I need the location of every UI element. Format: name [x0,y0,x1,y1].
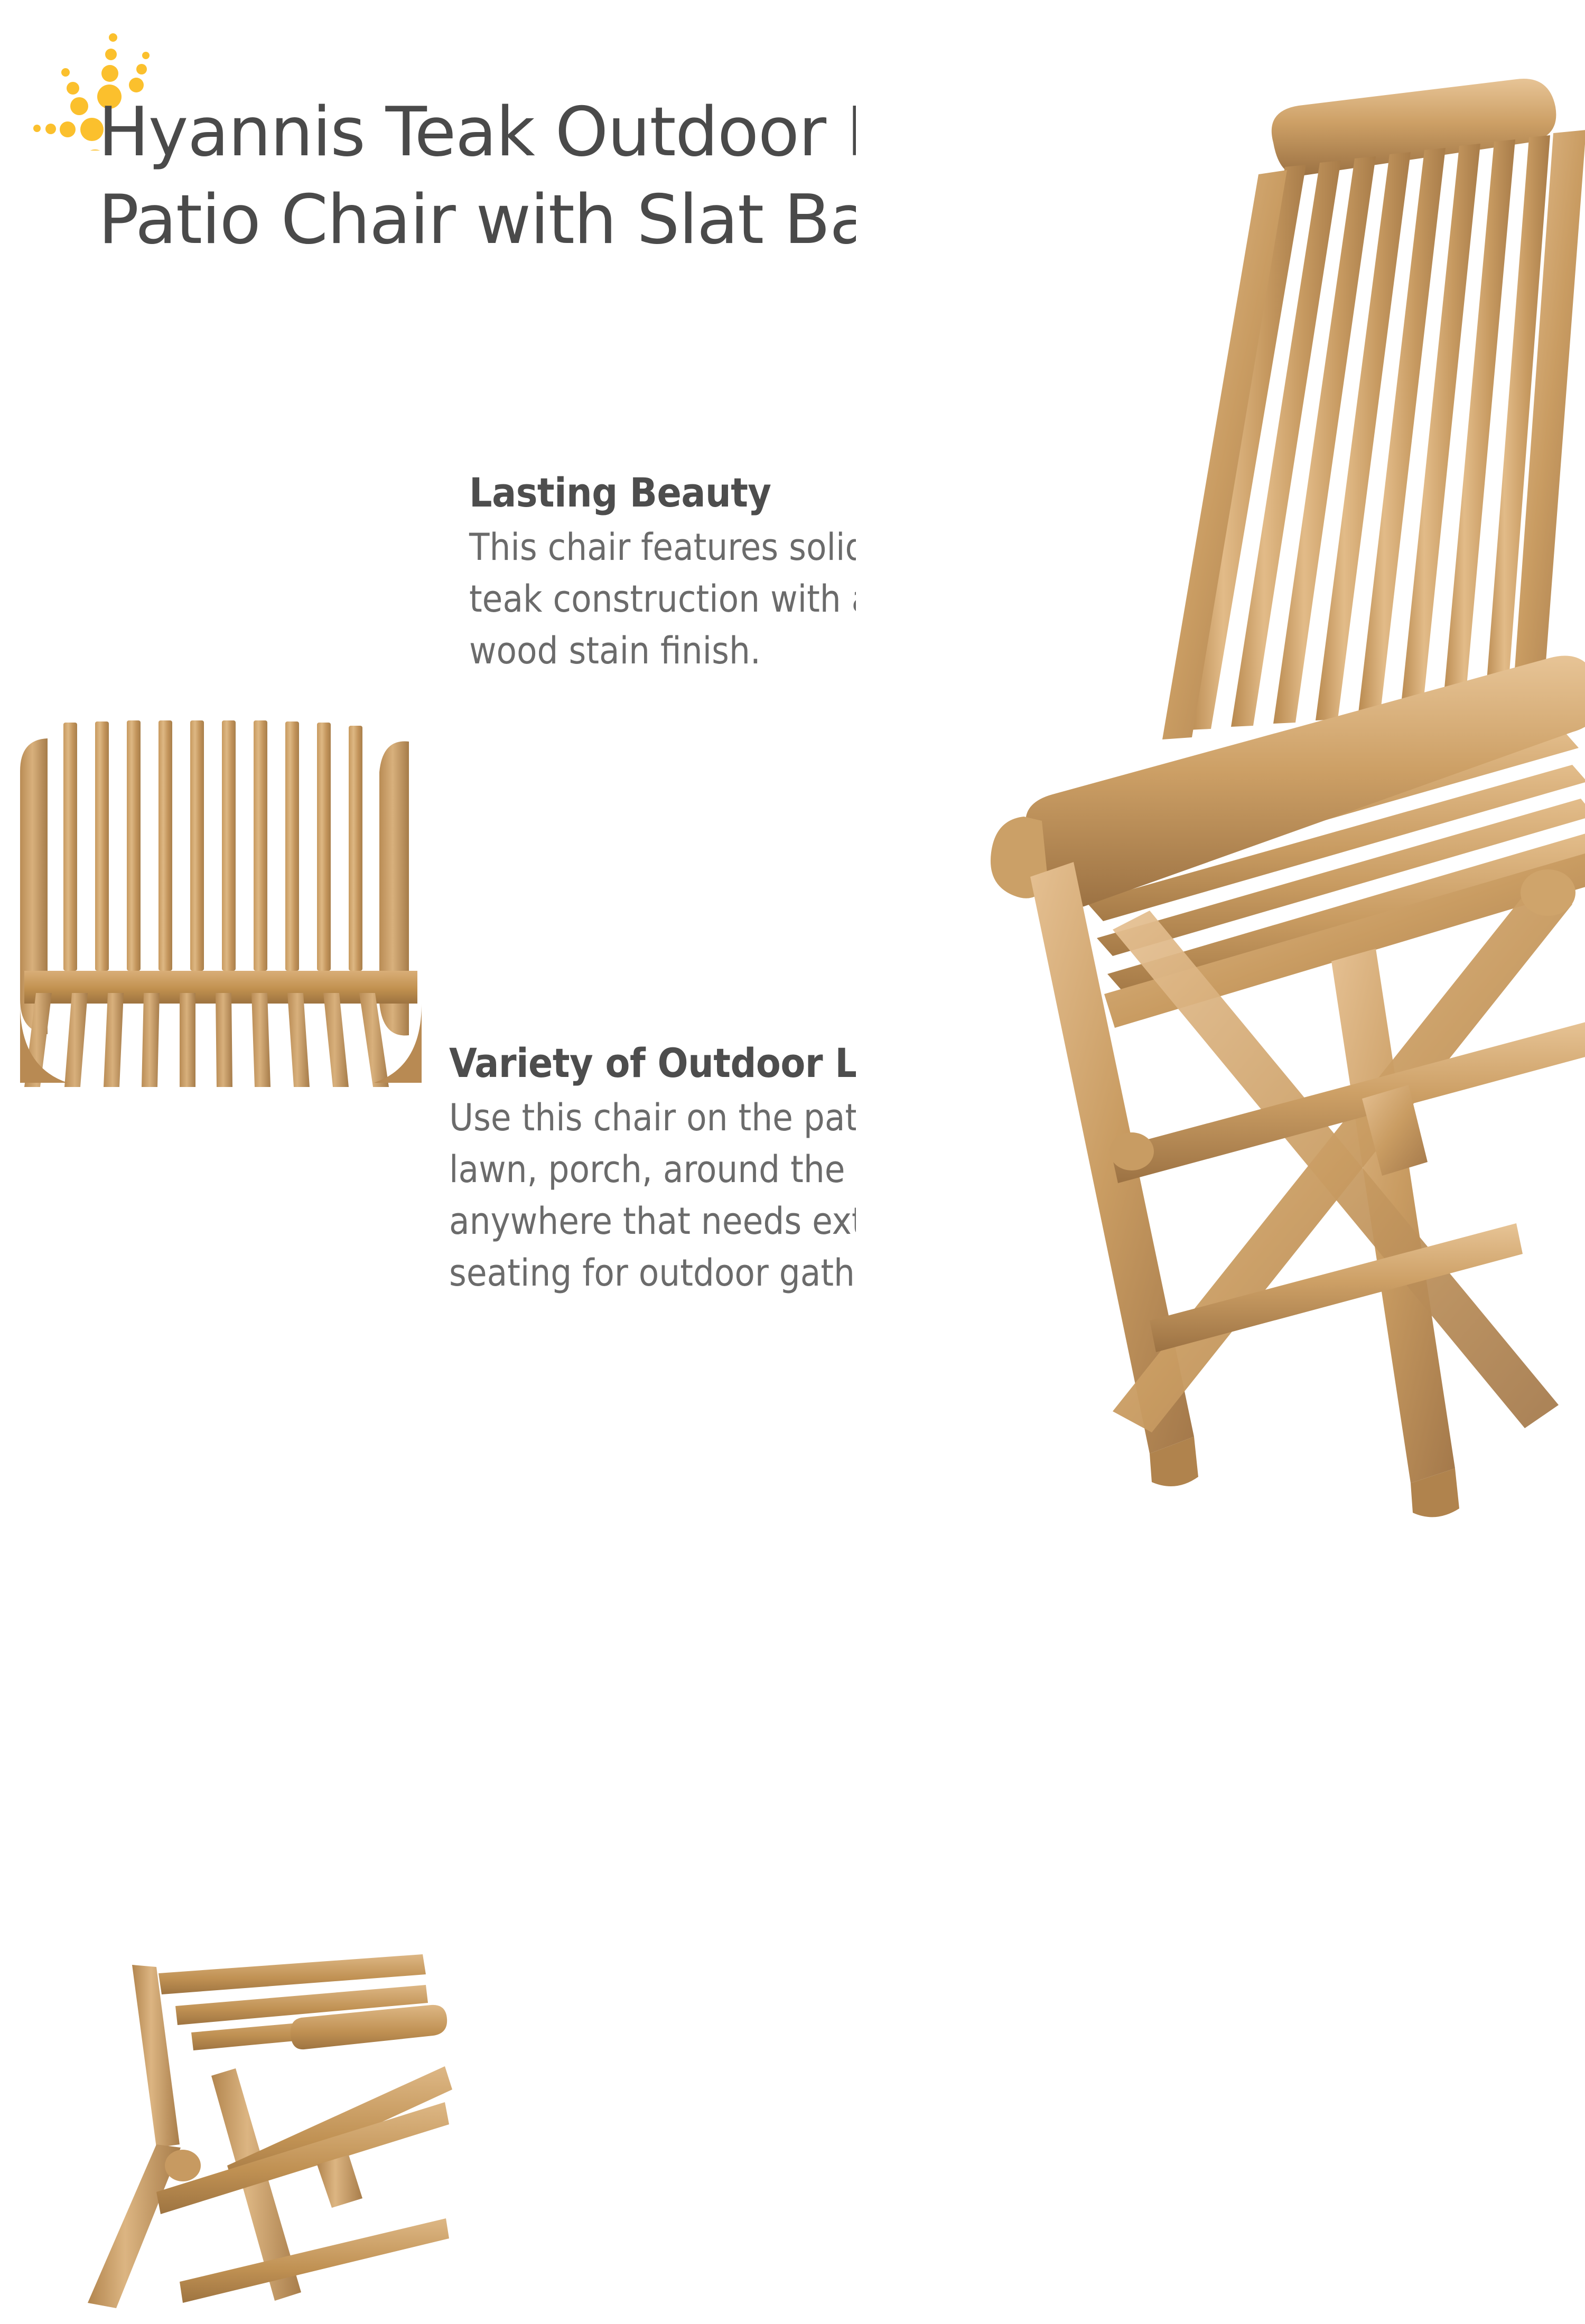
hero-product-image [856,63,1585,1532]
infographic-canvas: Hyannis Teak Outdoor Folding Patio Chair… [0,0,1585,1585]
feature-image-folding-legs [53,1944,454,2324]
